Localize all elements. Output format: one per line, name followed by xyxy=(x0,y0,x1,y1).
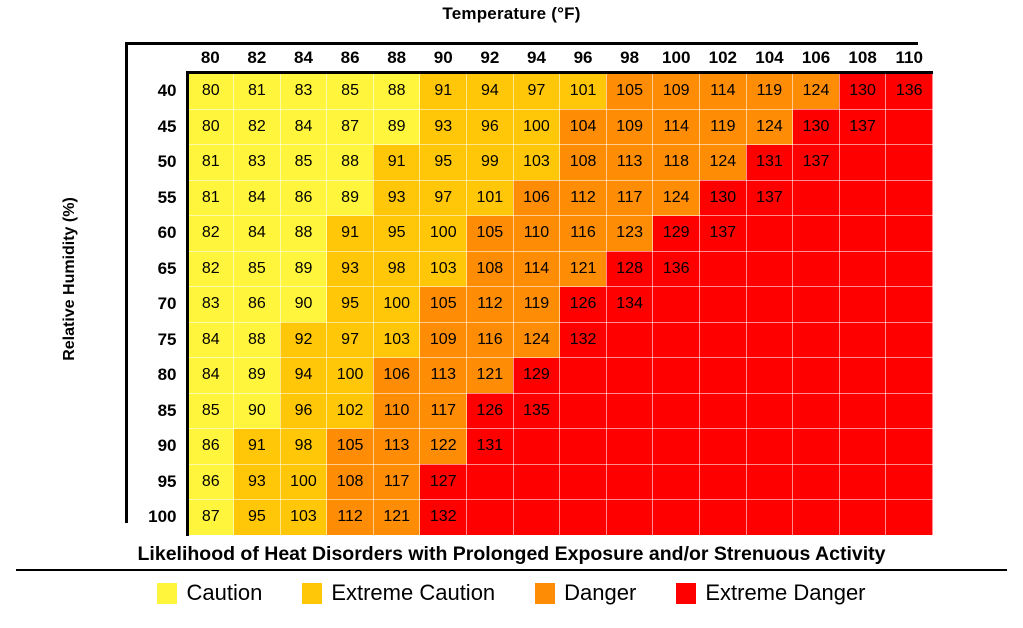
heat-index-cell: 96 xyxy=(467,109,514,145)
heat-index-cell: 114 xyxy=(513,251,560,287)
heat-index-cell xyxy=(653,322,700,358)
heat-index-cell xyxy=(700,251,747,287)
heat-index-cell: 131 xyxy=(467,429,514,465)
y-axis-title: Relative Humidity (%) xyxy=(61,159,79,399)
heat-index-cell xyxy=(746,393,793,429)
heat-index-cell: 124 xyxy=(513,322,560,358)
heat-index-cell: 86 xyxy=(280,180,327,216)
heat-index-cell: 83 xyxy=(280,73,327,110)
heat-index-cell: 109 xyxy=(420,322,467,358)
legend-title-underline xyxy=(16,569,1007,571)
heat-index-cell xyxy=(467,500,514,536)
heat-index-cell: 87 xyxy=(327,109,374,145)
heat-index-cell: 108 xyxy=(560,145,607,181)
heat-index-cell: 90 xyxy=(280,287,327,323)
legend-item-caution: Caution xyxy=(157,580,262,606)
temperature-header-84: 84 xyxy=(280,45,327,73)
legend-label-danger: Danger xyxy=(564,580,636,606)
heat-index-cell: 101 xyxy=(560,73,607,110)
heat-index-cell xyxy=(839,322,886,358)
heat-index-cell: 96 xyxy=(280,393,327,429)
temperature-header-98: 98 xyxy=(606,45,653,73)
heat-index-cell: 114 xyxy=(700,73,747,110)
legend-swatch-danger xyxy=(535,583,555,604)
heat-index-cell: 92 xyxy=(280,322,327,358)
temperature-header-88: 88 xyxy=(373,45,420,73)
temperature-header-104: 104 xyxy=(746,45,793,73)
legend-swatch-extreme-caution xyxy=(302,583,322,604)
heat-index-cell: 126 xyxy=(560,287,607,323)
heat-index-cell xyxy=(793,322,840,358)
heat-index-cell: 95 xyxy=(420,145,467,181)
heat-index-cell xyxy=(513,429,560,465)
heat-index-cell: 136 xyxy=(886,73,933,110)
legend-title: Likelihood of Heat Disorders with Prolon… xyxy=(0,543,1023,568)
heat-index-cell: 82 xyxy=(234,109,281,145)
heat-index-cell: 86 xyxy=(187,429,234,465)
heat-index-cell: 112 xyxy=(560,180,607,216)
heat-index-cell: 85 xyxy=(280,145,327,181)
heat-index-cell xyxy=(700,322,747,358)
table-row: 4080818385889194971011051091141191241301… xyxy=(128,73,933,110)
heat-index-cell: 137 xyxy=(700,216,747,252)
temperature-header-80: 80 xyxy=(187,45,234,73)
heat-index-cell: 83 xyxy=(234,145,281,181)
heat-index-cell: 119 xyxy=(513,287,560,323)
heat-index-cell: 109 xyxy=(653,73,700,110)
legend-item-extreme-danger: Extreme Danger xyxy=(676,580,865,606)
humidity-header-95: 95 xyxy=(128,464,187,500)
table-row: 608284889195100105110116123129137 xyxy=(128,216,933,252)
heat-index-cell: 86 xyxy=(234,287,281,323)
humidity-header-70: 70 xyxy=(128,287,187,323)
heat-index-cell: 93 xyxy=(327,251,374,287)
temperature-header-86: 86 xyxy=(327,45,374,73)
heat-index-cell: 105 xyxy=(327,429,374,465)
temperature-header-106: 106 xyxy=(793,45,840,73)
heat-index-cell xyxy=(839,251,886,287)
table-row: 1008795103112121132 xyxy=(128,500,933,536)
heat-index-cell xyxy=(700,287,747,323)
heat-index-cell: 88 xyxy=(327,145,374,181)
legend-swatch-caution xyxy=(157,583,177,604)
humidity-header-40: 40 xyxy=(128,73,187,110)
heat-index-cell: 81 xyxy=(187,180,234,216)
heat-index-cell: 88 xyxy=(373,73,420,110)
heat-index-cell xyxy=(653,500,700,536)
heat-index-cell xyxy=(606,358,653,394)
heat-index-cell xyxy=(467,464,514,500)
heat-index-cell: 112 xyxy=(327,500,374,536)
temperature-header-102: 102 xyxy=(700,45,747,73)
heat-index-cell: 103 xyxy=(513,145,560,181)
heat-index-cell: 105 xyxy=(606,73,653,110)
heat-index-cell: 89 xyxy=(280,251,327,287)
heat-index-cell: 124 xyxy=(700,145,747,181)
temperature-header-110: 110 xyxy=(886,45,933,73)
heat-index-cell: 89 xyxy=(373,109,420,145)
heat-index-cell xyxy=(886,429,933,465)
heat-index-cell xyxy=(746,322,793,358)
heat-index-cell: 95 xyxy=(234,500,281,536)
heat-index-cell: 91 xyxy=(327,216,374,252)
heat-index-cell: 106 xyxy=(373,358,420,394)
heat-index-cell xyxy=(653,287,700,323)
heat-index-cell: 103 xyxy=(280,500,327,536)
heat-index-cell: 86 xyxy=(187,464,234,500)
heat-index-cell: 119 xyxy=(700,109,747,145)
legend: CautionExtreme CautionDangerExtreme Dang… xyxy=(0,580,1023,606)
chart-footer: Likelihood of Heat Disorders with Prolon… xyxy=(0,543,1023,606)
heat-index-cell xyxy=(886,145,933,181)
heat-index-cell xyxy=(839,287,886,323)
humidity-header-50: 50 xyxy=(128,145,187,181)
heat-index-cell: 105 xyxy=(420,287,467,323)
legend-label-caution: Caution xyxy=(186,580,262,606)
heat-index-cell: 100 xyxy=(373,287,420,323)
table-row: 958693100108117127 xyxy=(128,464,933,500)
heat-index-cell: 122 xyxy=(420,429,467,465)
humidity-header-75: 75 xyxy=(128,322,187,358)
heat-index-chart: 80828486889092949698100102104106108110 4… xyxy=(125,42,918,523)
heat-index-cell: 129 xyxy=(653,216,700,252)
heat-index-cell: 126 xyxy=(467,393,514,429)
heat-index-cell: 117 xyxy=(420,393,467,429)
heat-index-cell: 80 xyxy=(187,109,234,145)
heat-index-cell xyxy=(793,251,840,287)
temperature-header-100: 100 xyxy=(653,45,700,73)
humidity-header-55: 55 xyxy=(128,180,187,216)
heat-index-cell: 108 xyxy=(467,251,514,287)
heat-index-cell: 89 xyxy=(327,180,374,216)
heat-index-cell: 103 xyxy=(420,251,467,287)
heat-index-cell: 84 xyxy=(280,109,327,145)
heat-index-cell: 82 xyxy=(187,216,234,252)
heat-index-cell xyxy=(793,393,840,429)
table-row: 85859096102110117126135 xyxy=(128,393,933,429)
heat-index-cell: 108 xyxy=(327,464,374,500)
heat-index-cell: 97 xyxy=(420,180,467,216)
heat-index-cell: 102 xyxy=(327,393,374,429)
table-corner-cell xyxy=(128,45,187,73)
heat-index-cell: 113 xyxy=(606,145,653,181)
heat-index-cell: 109 xyxy=(606,109,653,145)
heat-index-cell: 100 xyxy=(280,464,327,500)
heat-index-cell xyxy=(560,358,607,394)
heat-index-cell xyxy=(746,251,793,287)
heat-index-cell: 132 xyxy=(560,322,607,358)
table-row: 4580828487899396100104109114119124130137 xyxy=(128,109,933,145)
legend-swatch-extreme-danger xyxy=(676,583,696,604)
humidity-header-65: 65 xyxy=(128,251,187,287)
heat-index-cell xyxy=(606,500,653,536)
temperature-header-96: 96 xyxy=(560,45,607,73)
temperature-header-108: 108 xyxy=(839,45,886,73)
heat-index-cell xyxy=(746,464,793,500)
heat-index-cell xyxy=(793,500,840,536)
heat-index-cell: 121 xyxy=(373,500,420,536)
heat-index-cell: 137 xyxy=(746,180,793,216)
heat-index-cell: 116 xyxy=(467,322,514,358)
legend-label-extreme-caution: Extreme Caution xyxy=(331,580,495,606)
heat-index-cell: 112 xyxy=(467,287,514,323)
heat-index-cell: 89 xyxy=(234,358,281,394)
heat-index-cell xyxy=(793,429,840,465)
heat-index-cell: 131 xyxy=(746,145,793,181)
heat-index-cell xyxy=(513,500,560,536)
heat-index-cell: 94 xyxy=(467,73,514,110)
heat-index-cell xyxy=(793,464,840,500)
heat-index-cell: 106 xyxy=(513,180,560,216)
heat-index-cell xyxy=(700,429,747,465)
heat-index-cell xyxy=(886,180,933,216)
heat-index-cell: 94 xyxy=(280,358,327,394)
heat-index-cell: 101 xyxy=(467,180,514,216)
heat-index-cell: 135 xyxy=(513,393,560,429)
heat-index-cell xyxy=(513,464,560,500)
heat-index-cell: 110 xyxy=(513,216,560,252)
table-row: 55818486899397101106112117124130137 xyxy=(128,180,933,216)
heat-index-cell: 130 xyxy=(700,180,747,216)
humidity-header-45: 45 xyxy=(128,109,187,145)
heat-index-cell: 91 xyxy=(373,145,420,181)
table-row: 90869198105113122131 xyxy=(128,429,933,465)
heat-index-cell: 113 xyxy=(420,358,467,394)
heat-index-cell: 105 xyxy=(467,216,514,252)
heat-index-cell: 130 xyxy=(839,73,886,110)
heat-index-cell xyxy=(839,145,886,181)
heat-index-cell: 87 xyxy=(187,500,234,536)
heat-index-table: 80828486889092949698100102104106108110 4… xyxy=(128,45,933,536)
heat-index-cell xyxy=(746,287,793,323)
heat-index-cell: 98 xyxy=(280,429,327,465)
heat-index-cell: 93 xyxy=(420,109,467,145)
heat-index-cell: 81 xyxy=(234,73,281,110)
humidity-header-90: 90 xyxy=(128,429,187,465)
heat-index-cell xyxy=(653,429,700,465)
heat-index-cell: 95 xyxy=(327,287,374,323)
heat-index-cell: 121 xyxy=(560,251,607,287)
heat-index-cell: 124 xyxy=(653,180,700,216)
heat-index-cell xyxy=(560,429,607,465)
heat-index-cell: 97 xyxy=(513,73,560,110)
heat-index-cell: 121 xyxy=(467,358,514,394)
humidity-header-85: 85 xyxy=(128,393,187,429)
table-row: 7083869095100105112119126134 xyxy=(128,287,933,323)
heat-index-cell xyxy=(560,464,607,500)
heat-index-cell xyxy=(886,287,933,323)
legend-item-extreme-caution: Extreme Caution xyxy=(302,580,495,606)
heat-index-cell xyxy=(886,322,933,358)
table-row: 5081838588919599103108113118124131137 xyxy=(128,145,933,181)
heat-index-cell: 104 xyxy=(560,109,607,145)
heat-index-cell xyxy=(560,500,607,536)
heat-index-cell xyxy=(886,464,933,500)
temperature-header-90: 90 xyxy=(420,45,467,73)
heat-index-cell xyxy=(700,393,747,429)
heat-index-cell xyxy=(746,500,793,536)
heat-index-cell: 103 xyxy=(373,322,420,358)
heat-index-cell xyxy=(839,393,886,429)
heat-index-cell: 88 xyxy=(280,216,327,252)
heat-index-cell xyxy=(653,464,700,500)
heat-index-cell xyxy=(700,358,747,394)
heat-index-cell: 136 xyxy=(653,251,700,287)
heat-index-cell: 113 xyxy=(373,429,420,465)
heat-index-cell: 85 xyxy=(234,251,281,287)
humidity-header-80: 80 xyxy=(128,358,187,394)
heat-index-cell: 81 xyxy=(187,145,234,181)
humidity-header-60: 60 xyxy=(128,216,187,252)
heat-index-cell: 84 xyxy=(234,180,281,216)
heat-index-cell: 84 xyxy=(234,216,281,252)
heat-index-cell xyxy=(606,393,653,429)
heat-index-cell: 91 xyxy=(234,429,281,465)
heat-index-cell: 85 xyxy=(187,393,234,429)
heat-index-cell xyxy=(560,393,607,429)
heat-index-cell: 84 xyxy=(187,358,234,394)
heat-index-cell: 80 xyxy=(187,73,234,110)
heat-index-cell: 93 xyxy=(373,180,420,216)
heat-index-cell: 114 xyxy=(653,109,700,145)
heat-index-cell: 84 xyxy=(187,322,234,358)
heat-index-cell: 100 xyxy=(327,358,374,394)
legend-item-danger: Danger xyxy=(535,580,636,606)
heat-index-cell xyxy=(606,464,653,500)
heat-index-cell xyxy=(886,393,933,429)
heat-index-cell xyxy=(886,216,933,252)
x-axis-title: Temperature (°F) xyxy=(0,4,1023,24)
heat-index-cell xyxy=(886,109,933,145)
heat-index-cell: 110 xyxy=(373,393,420,429)
heat-index-cell xyxy=(839,216,886,252)
heat-index-cell xyxy=(793,358,840,394)
heat-index-cell xyxy=(839,429,886,465)
heat-index-cell xyxy=(746,216,793,252)
temperature-header-92: 92 xyxy=(467,45,514,73)
heat-index-cell: 123 xyxy=(606,216,653,252)
legend-label-extreme-danger: Extreme Danger xyxy=(705,580,865,606)
heat-index-cell: 99 xyxy=(467,145,514,181)
heat-index-cell: 93 xyxy=(234,464,281,500)
temperature-header-94: 94 xyxy=(513,45,560,73)
humidity-header-100: 100 xyxy=(128,500,187,536)
heat-index-cell xyxy=(793,287,840,323)
heat-index-cell xyxy=(839,180,886,216)
heat-index-cell xyxy=(606,322,653,358)
heat-index-cell: 129 xyxy=(513,358,560,394)
heat-index-cell xyxy=(653,358,700,394)
heat-index-cell: 118 xyxy=(653,145,700,181)
heat-index-cell: 137 xyxy=(839,109,886,145)
heat-index-cell: 134 xyxy=(606,287,653,323)
heat-index-cell xyxy=(839,500,886,536)
heat-index-cell: 83 xyxy=(187,287,234,323)
heat-index-cell: 116 xyxy=(560,216,607,252)
heat-index-cell: 117 xyxy=(606,180,653,216)
heat-index-cell: 100 xyxy=(513,109,560,145)
heat-index-cell: 119 xyxy=(746,73,793,110)
heat-index-cell: 95 xyxy=(373,216,420,252)
temperature-header-82: 82 xyxy=(234,45,281,73)
heat-index-cell xyxy=(793,180,840,216)
heat-index-cell xyxy=(700,464,747,500)
heat-index-cell: 124 xyxy=(793,73,840,110)
table-row: 658285899398103108114121128136 xyxy=(128,251,933,287)
heat-index-cell: 132 xyxy=(420,500,467,536)
heat-index-cell: 90 xyxy=(234,393,281,429)
heat-index-cell: 127 xyxy=(420,464,467,500)
heat-index-cell xyxy=(700,500,747,536)
heat-index-cell: 85 xyxy=(327,73,374,110)
heat-index-cell: 128 xyxy=(606,251,653,287)
heat-index-cell: 82 xyxy=(187,251,234,287)
heat-index-cell: 130 xyxy=(793,109,840,145)
heat-index-cell xyxy=(839,464,886,500)
heat-index-cell: 88 xyxy=(234,322,281,358)
heat-index-cell xyxy=(839,358,886,394)
heat-index-cell xyxy=(606,429,653,465)
heat-index-cell xyxy=(746,358,793,394)
heat-index-cell xyxy=(746,429,793,465)
heat-index-cell: 117 xyxy=(373,464,420,500)
heat-index-cell xyxy=(886,251,933,287)
heat-index-cell xyxy=(793,216,840,252)
temperature-header-row: 80828486889092949698100102104106108110 xyxy=(128,45,933,73)
heat-index-cell: 100 xyxy=(420,216,467,252)
heat-index-cell: 97 xyxy=(327,322,374,358)
heat-index-cell xyxy=(653,393,700,429)
heat-index-cell: 91 xyxy=(420,73,467,110)
heat-index-cell xyxy=(886,358,933,394)
table-row: 80848994100106113121129 xyxy=(128,358,933,394)
heat-index-cell: 98 xyxy=(373,251,420,287)
heat-index-cell xyxy=(886,500,933,536)
heat-index-cell: 137 xyxy=(793,145,840,181)
table-row: 7584889297103109116124132 xyxy=(128,322,933,358)
heat-index-cell: 124 xyxy=(746,109,793,145)
